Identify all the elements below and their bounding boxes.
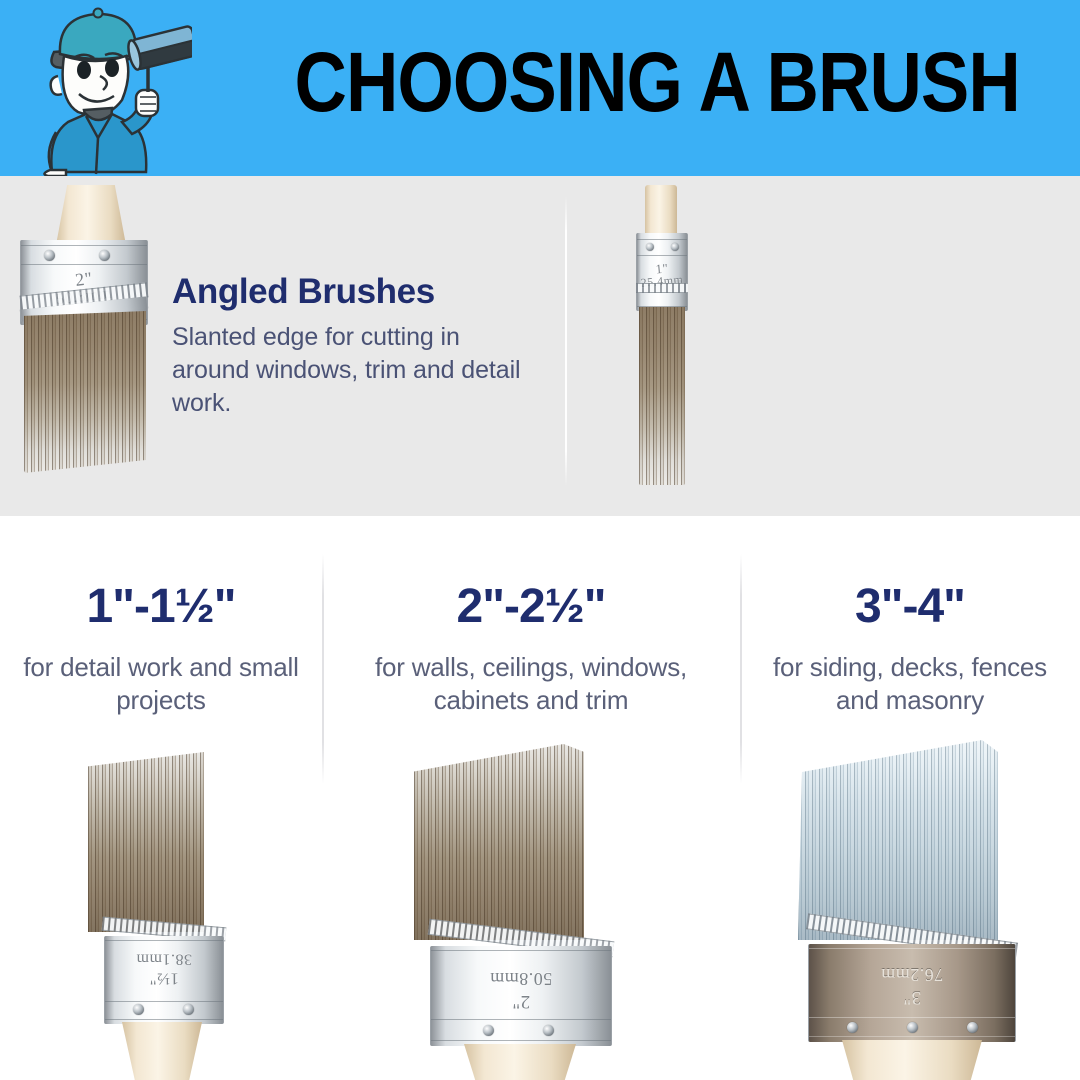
size-brush-image-medium: 50.8mm 2" bbox=[414, 744, 644, 1080]
brush-ferrule: 76.2mm 3" bbox=[808, 944, 1016, 1042]
ferrule-size-inches: 2" bbox=[431, 990, 611, 1011]
brush-ferrule: 38.1mm 1½" bbox=[104, 936, 224, 1024]
brush-handle bbox=[645, 185, 677, 237]
painter-mascot-icon bbox=[22, 4, 192, 176]
size-description: for siding, decks, fences and masonry bbox=[740, 651, 1080, 717]
size-column-small: 1"-1½" for detail work and small project… bbox=[0, 516, 322, 1080]
angled-brush-text: Angled Brushes Slanted edge for cutting … bbox=[172, 272, 532, 420]
size-label: 2"-2½" bbox=[322, 579, 740, 634]
flat-brush-image: 1" 25.4mm bbox=[618, 185, 728, 495]
ferrule-crimp bbox=[636, 283, 688, 293]
angled-brush-body: Slanted edge for cutting in around windo… bbox=[172, 321, 532, 420]
header-banner: CHOOSING A BRUSH bbox=[0, 0, 1080, 176]
brush-bristles bbox=[88, 752, 204, 932]
brush-bristles bbox=[798, 740, 998, 940]
page-title: CHOOSING A BRUSH bbox=[295, 28, 946, 136]
ferrule-size-inches: 1½" bbox=[105, 969, 223, 988]
size-description: for detail work and small projects bbox=[0, 651, 322, 717]
brush-ferrule: 1" 25.4mm bbox=[636, 233, 688, 311]
brush-sizes-section: 1"-1½" for detail work and small project… bbox=[0, 516, 1080, 1080]
size-brush-image-small: 38.1mm 1½" bbox=[88, 752, 258, 1080]
brush-handle bbox=[842, 1040, 982, 1080]
brush-types-section: 2" 50.8mm Angled Brushes Slanted edge fo… bbox=[0, 176, 1080, 516]
angled-brush-heading: Angled Brushes bbox=[172, 272, 532, 312]
size-label: 3"-4" bbox=[740, 579, 1080, 634]
size-description: for walls, ceilings, windows, cabinets a… bbox=[322, 651, 740, 717]
brush-type-angled: 2" 50.8mm Angled Brushes Slanted edge fo… bbox=[0, 176, 565, 516]
size-label: 1"-1½" bbox=[0, 579, 322, 634]
ferrule-size-inches: 3" bbox=[809, 986, 1015, 1007]
size-column-large: 3"-4" for siding, decks, fences and maso… bbox=[740, 516, 1080, 1080]
ferrule-size-mm: 50.8mm bbox=[431, 968, 611, 988]
brush-bristles bbox=[24, 311, 146, 473]
brush-handle bbox=[122, 1022, 202, 1080]
ferrule-size-mm: 76.2mm bbox=[809, 964, 1015, 984]
ferrule-size-mm: 38.1mm bbox=[105, 950, 223, 968]
size-column-medium: 2"-2½" for walls, ceilings, windows, cab… bbox=[322, 516, 740, 1080]
brush-bristles bbox=[639, 307, 685, 485]
brush-handle bbox=[464, 1044, 576, 1080]
brush-ferrule: 50.8mm 2" bbox=[430, 946, 612, 1046]
brush-bristles bbox=[414, 744, 584, 940]
size-brush-image-large: 76.2mm 3" bbox=[798, 740, 1048, 1080]
brush-handle bbox=[56, 185, 126, 245]
angled-brush-image: 2" 50.8mm bbox=[18, 185, 168, 485]
brush-type-flat: 1" 25.4mm Flat Brushes Straight edge for… bbox=[565, 176, 1080, 516]
